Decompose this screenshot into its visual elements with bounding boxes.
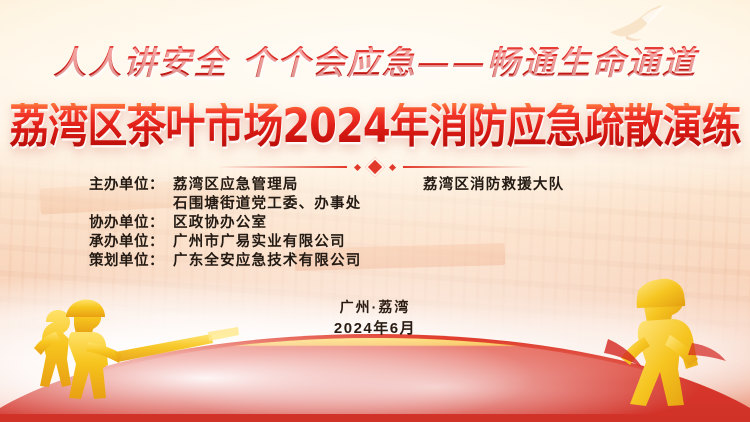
organizers-block: 主办单位： 荔湾区应急管理局 荔湾区消防救援大队 石围塘街道党工委、办事处 协办… (0, 176, 750, 271)
organizer-value: 广州市广易实业有限公司 (164, 233, 414, 252)
organizer-value-secondary: 荔湾区消防救援大队 (414, 176, 674, 195)
poster-main-title: 荔湾区茶叶市场2024年消防应急疏散演练 (0, 103, 750, 150)
dove-icon (602, 2, 672, 44)
poster-canvas: 人人讲安全 个个会应急——畅通生命通道 荔湾区茶叶市场2024年消防应急疏散演练… (0, 0, 750, 422)
organizer-row: 协办单位： 区政协办公室 (0, 214, 750, 233)
organizer-row: 石围塘街道党工委、办事处 (0, 195, 750, 214)
organizer-value: 区政协办公室 (164, 214, 414, 233)
footer-date: 2024年6月 (0, 318, 750, 340)
organizer-label: 承办单位： (76, 233, 164, 252)
organizer-label: 主办单位： (76, 176, 164, 195)
organizer-row: 承办单位： 广州市广易实业有限公司 (0, 233, 750, 252)
organizer-label: 策划单位： (76, 252, 164, 271)
organizer-value: 石围塘街道党工委、办事处 (164, 195, 414, 214)
divider-rule-left (217, 166, 347, 168)
divider-dot-left (354, 163, 361, 170)
divider-rule-right (403, 166, 533, 168)
divider-dot-right (389, 163, 396, 170)
organizer-row: 主办单位： 荔湾区应急管理局 荔湾区消防救援大队 (0, 176, 750, 195)
organizer-row: 策划单位： 广东全安应急技术有限公司 (0, 252, 750, 271)
diamond-divider-icon (0, 158, 750, 176)
poster-footer: 广州·荔湾 2024年6月 (0, 296, 750, 340)
organizer-value: 广东全安应急技术有限公司 (164, 252, 414, 271)
poster-headline: 人人讲安全 个个会应急——畅通生命通道 (0, 46, 750, 79)
organizer-value: 荔湾区应急管理局 (164, 176, 414, 195)
divider-gem (365, 157, 385, 177)
footer-place: 广州·荔湾 (0, 296, 750, 318)
organizer-label: 协办单位： (76, 214, 164, 233)
